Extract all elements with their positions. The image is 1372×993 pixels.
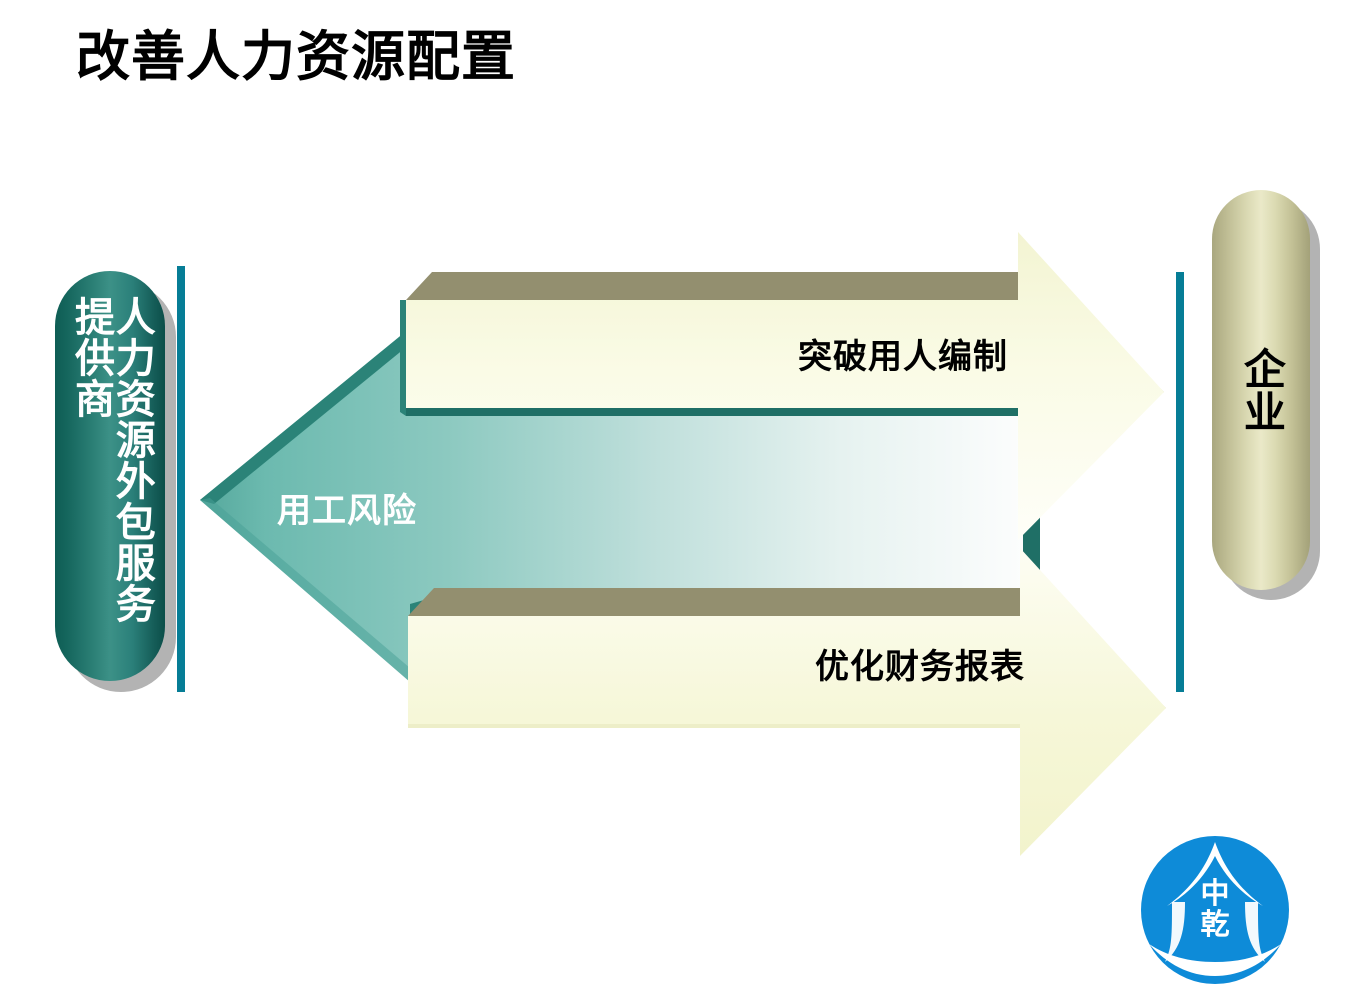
left-entity-label: 人力资源外包服务提供商	[68, 296, 152, 656]
logo-emblem-icon	[1141, 836, 1289, 984]
outgoing-arrow-top-label: 突破用人编制	[798, 329, 1008, 378]
right-entity-pill: 企业	[1212, 190, 1310, 590]
company-logo: 中 乾	[1141, 836, 1289, 984]
outgoing-arrow-bottom	[408, 548, 1166, 856]
outgoing-arrow-bottom-label: 优化财务报表	[815, 639, 1025, 688]
left-entity-pill: 人力资源外包服务提供商	[55, 271, 165, 681]
right-entity-label: 企业	[1240, 347, 1283, 433]
incoming-arrow-middle-label: 用工风险	[277, 483, 417, 532]
slide-canvas: 改善人力资源配置	[0, 0, 1372, 993]
